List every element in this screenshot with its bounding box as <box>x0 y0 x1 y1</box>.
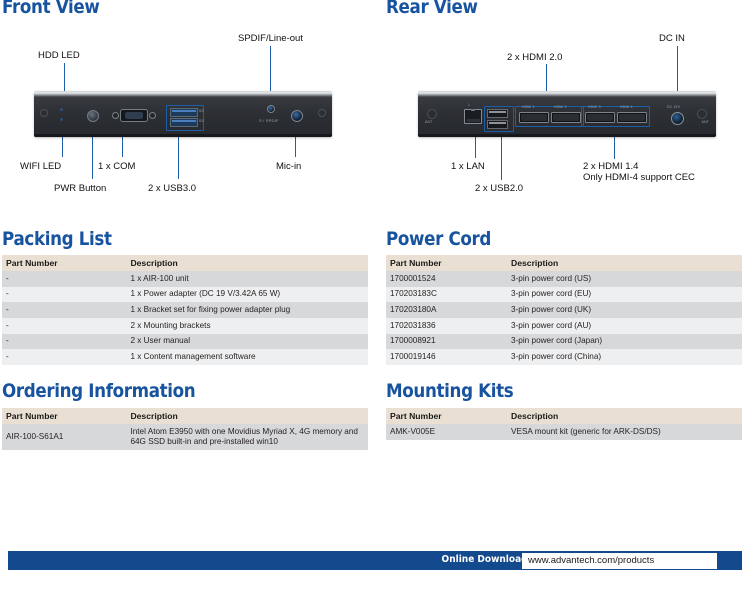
lan-port <box>464 109 482 124</box>
column-header-description: Description <box>126 255 368 271</box>
lan-label: 1 <box>468 103 470 107</box>
mounting-kits-table: Part Number Description AMK-V005E VESA m… <box>386 408 742 440</box>
hdd-led-indicator <box>60 108 63 111</box>
wifi-led-indicator <box>60 118 63 121</box>
rear-chassis: ANT ANT 1 HDMI 1 HDMI 2 HDMI 3 HDMI 4 DC… <box>418 91 716 137</box>
cell-description: 3-pin power cord (US) <box>507 271 742 287</box>
mounting-kits-heading: Mounting Kits <box>386 380 513 402</box>
callout-usb20: 2 x USB2.0 <box>475 183 523 194</box>
table-header-row: Part Number Description <box>2 408 368 424</box>
hdmi4-label: HDMI 4 <box>620 105 633 109</box>
packing-list-heading: Packing List <box>2 228 112 250</box>
footer-url-text[interactable]: www.advantech.com/products <box>528 555 654 566</box>
front-chassis: SS SS S / SPDIF <box>34 91 332 137</box>
column-header-part-number: Part Number <box>2 408 126 424</box>
table-header-row: Part Number Description <box>386 255 742 271</box>
column-header-part-number: Part Number <box>386 408 507 424</box>
cell-description: 1 x AIR-100 unit <box>126 271 368 287</box>
leader-usb30 <box>178 132 179 179</box>
cell-part-number: 1700008921 <box>386 334 507 350</box>
cell-part-number: 1700019146 <box>386 349 507 365</box>
cell-part-number: - <box>2 271 126 287</box>
spdif-label: S / SPDIF <box>259 118 279 123</box>
table-row: - 1 x AIR-100 unit <box>2 271 368 287</box>
ordering-information-table: Part Number Description AIR-100-S61A1 In… <box>2 408 368 450</box>
cell-part-number: - <box>2 334 126 350</box>
cell-description: 2 x User manual <box>126 334 368 350</box>
cell-description: 3-pin power cord (Japan) <box>507 334 742 350</box>
cell-description: 3-pin power cord (EU) <box>507 287 742 303</box>
callout-com: 1 x COM <box>98 161 135 172</box>
cell-description: 3-pin power cord (AU) <box>507 318 742 334</box>
table-row: 170203183C 3-pin power cord (EU) <box>386 287 742 303</box>
callout-pwr-button: PWR Button <box>54 183 106 194</box>
table-row: - 1 x Bracket set for fixing power adapt… <box>2 302 368 318</box>
table-header-row: Part Number Description <box>2 255 368 271</box>
cell-description: 1 x Bracket set for fixing power adapter… <box>126 302 368 318</box>
callout-hdd-led: HDD LED <box>38 50 80 61</box>
front-view-heading: Front View <box>2 0 99 18</box>
table-header-row: Part Number Description <box>386 408 742 424</box>
table-row: 1702031836 3-pin power cord (AU) <box>386 318 742 334</box>
cell-part-number: - <box>2 302 126 318</box>
usb30-upper-label: SS <box>199 109 204 113</box>
callout-spdif-lineout: SPDIF/Line-out <box>238 33 303 44</box>
table-row: - 2 x Mounting brackets <box>2 318 368 334</box>
table-row: - 2 x User manual <box>2 334 368 350</box>
ordering-information-heading: Ordering Information <box>2 380 195 402</box>
mic-in-jack <box>291 110 303 122</box>
table-row: AIR-100-S61A1 Intel Atom E3950 with one … <box>2 424 368 450</box>
table-row: 1700008921 3-pin power cord (Japan) <box>386 334 742 350</box>
hdmi4-port <box>617 112 647 123</box>
cell-part-number: - <box>2 349 126 365</box>
ant-right-label: ANT <box>702 120 709 124</box>
callout-lan: 1 x LAN <box>451 161 485 172</box>
cell-part-number: - <box>2 287 126 303</box>
cell-part-number: 170203180A <box>386 302 507 318</box>
antenna-hole-right <box>697 109 707 119</box>
cell-description: 1 x Power adapter (DC 19 V/3.42A 65 W) <box>126 287 368 303</box>
com-port <box>120 109 148 122</box>
cell-part-number: AIR-100-S61A1 <box>2 424 126 450</box>
dc-in-label: DC 19V <box>667 105 680 109</box>
cell-part-number: AMK-V005E <box>386 424 507 440</box>
front-right-mark <box>318 109 326 117</box>
column-header-part-number: Part Number <box>386 255 507 271</box>
usb30-lower-label: SS <box>199 119 204 123</box>
usb30-port-lower <box>170 118 198 127</box>
cell-part-number: 1702031836 <box>386 318 507 334</box>
hdmi3-label: HDMI 3 <box>588 105 601 109</box>
column-header-part-number: Part Number <box>2 255 126 271</box>
online-download-label: Online Download <box>442 554 528 565</box>
com-screw-right <box>149 112 156 119</box>
hdmi2-label: HDMI 2 <box>554 105 567 109</box>
callout-dc-in: DC IN <box>659 33 685 44</box>
column-header-description: Description <box>507 255 742 271</box>
table-row: 170203180A 3-pin power cord (UK) <box>386 302 742 318</box>
cell-part-number: 1700001524 <box>386 271 507 287</box>
hdmi2-port <box>551 112 581 123</box>
cell-description: 1 x Content management software <box>126 349 368 365</box>
power-button-port <box>87 110 99 122</box>
table-row: - 1 x Power adapter (DC 19 V/3.42A 65 W) <box>2 287 368 303</box>
dc-in-jack <box>671 112 684 125</box>
usb30-port-upper <box>170 108 198 117</box>
cell-description: 3-pin power cord (UK) <box>507 302 742 318</box>
usb20-port-lower <box>487 120 508 129</box>
packing-list-table: Part Number Description - 1 x AIR-100 un… <box>2 255 368 365</box>
cell-description: 3-pin power cord (China) <box>507 349 742 365</box>
hdmi1-port <box>519 112 549 123</box>
hdmi1-label: HDMI 1 <box>522 105 535 109</box>
power-cord-table: Part Number Description 1700001524 3-pin… <box>386 255 742 365</box>
table-row: 1700019146 3-pin power cord (China) <box>386 349 742 365</box>
cell-description: 2 x Mounting brackets <box>126 318 368 334</box>
cell-part-number: 170203183C <box>386 287 507 303</box>
hdmi3-port <box>585 112 615 123</box>
table-row: - 1 x Content management software <box>2 349 368 365</box>
column-header-description: Description <box>126 408 368 424</box>
cell-description: VESA mount kit (generic for ARK-DS/DS) <box>507 424 742 440</box>
column-header-description: Description <box>507 408 742 424</box>
cell-part-number: - <box>2 318 126 334</box>
callout-hdmi14-line1: 2 x HDMI 1.4 <box>583 161 638 172</box>
com-screw-left <box>112 112 119 119</box>
rear-view-heading: Rear View <box>386 0 478 18</box>
callout-usb30: 2 x USB3.0 <box>148 183 196 194</box>
antenna-hole-left <box>427 109 437 119</box>
callout-hdmi14-line2: Only HDMI-4 support CEC <box>583 172 695 183</box>
callout-wifi-led: WIFI LED <box>20 161 61 172</box>
callout-hdmi20: 2 x HDMI 2.0 <box>507 52 562 63</box>
table-row: 1700001524 3-pin power cord (US) <box>386 271 742 287</box>
table-row: AMK-V005E VESA mount kit (generic for AR… <box>386 424 742 440</box>
power-cord-heading: Power Cord <box>386 228 491 250</box>
usb20-port-upper <box>487 109 508 118</box>
callout-mic-in: Mic-in <box>276 161 301 172</box>
cell-description: Intel Atom E3950 with one Movidius Myria… <box>126 424 368 450</box>
ant-left-label: ANT <box>425 120 432 124</box>
spdif-lineout-jack <box>267 105 275 113</box>
front-left-mark <box>40 109 48 117</box>
